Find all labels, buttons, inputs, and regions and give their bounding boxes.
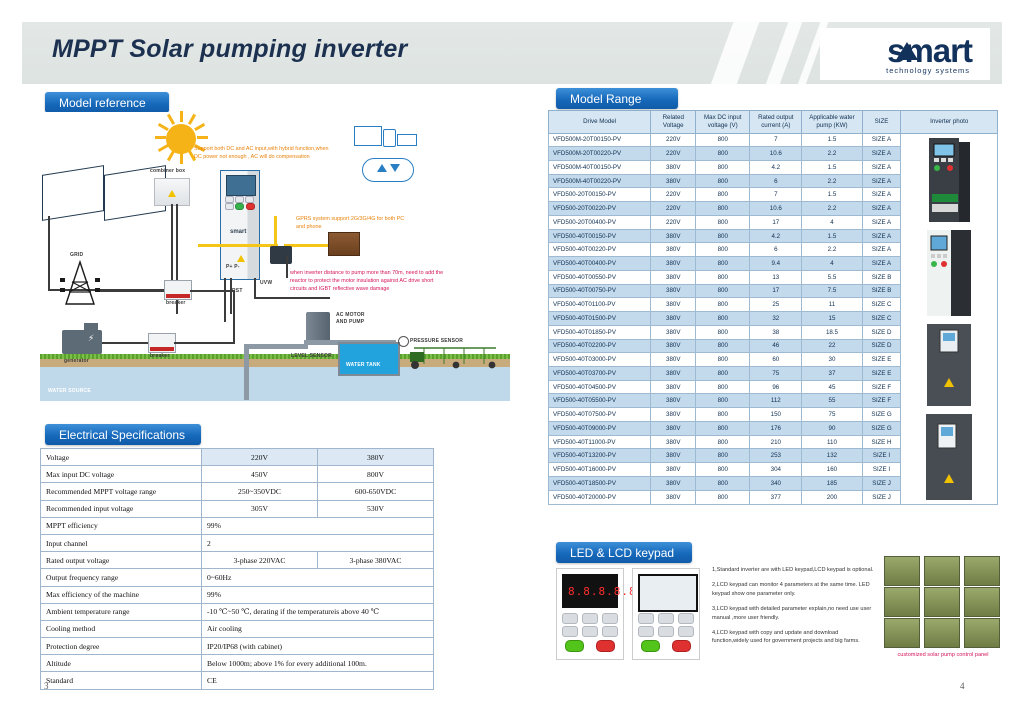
cell-water-pump: 11 (802, 298, 862, 312)
cell-related-voltage: 380V (651, 421, 696, 435)
cell-related-voltage: 380V (651, 449, 696, 463)
cell-drive-model: VFD500-20T00220-PV (549, 202, 651, 216)
cell-related-voltage: 380V (651, 380, 696, 394)
cell-water-pump: 1.5 (802, 133, 862, 147)
table-row: Recommended MPPT voltage range250~350VDC… (41, 483, 434, 500)
cell-max-dc-input: 800 (696, 229, 750, 243)
cell-drive-model: VFD500-40T04500-PV (549, 380, 651, 394)
spec-parameter: MPPT efficiency (41, 517, 202, 534)
cell-related-voltage: 380V (651, 284, 696, 298)
cell-water-pump: 1.5 (802, 229, 862, 243)
cell-related-voltage: 380V (651, 353, 696, 367)
col-size: SIZE (862, 111, 901, 134)
cell-size: SIZE B (862, 284, 901, 298)
cell-rated-output-current: 46 (750, 339, 802, 353)
spec-value: -10 ℃~50 ℃, derating if the temperaturei… (202, 603, 434, 620)
cell-size: SIZE A (862, 215, 901, 229)
spec-parameter: Input channel (41, 534, 202, 551)
note-gprs: GPRS system support 2G/3G/4G for both PC… (296, 216, 406, 232)
combiner-box (154, 178, 190, 206)
cell-water-pump: 90 (802, 421, 862, 435)
cell-size: SIZE C (862, 312, 901, 326)
cell-water-pump: 37 (802, 366, 862, 380)
cell-max-dc-input: 800 (696, 421, 750, 435)
table-row: Voltage220V380V (41, 449, 434, 466)
lcd-keypad (632, 568, 700, 660)
cell-max-dc-input: 800 (696, 490, 750, 504)
cell-water-pump: 1.5 (802, 188, 862, 202)
cell-size: SIZE G (862, 408, 901, 422)
logo-triangle-icon (896, 42, 918, 60)
cell-drive-model: VFD500-40T00220-PV (549, 243, 651, 257)
table-row: Ambient temperature range-10 ℃~50 ℃, der… (41, 603, 434, 620)
keypad-note-4: 4,LCD keypad with copy and update and do… (712, 629, 874, 646)
cell-max-dc-input: 800 (696, 270, 750, 284)
spec-parameter: Recommended MPPT voltage range (41, 483, 202, 500)
cell-size: SIZE A (862, 188, 901, 202)
cell-water-pump: 2.2 (802, 243, 862, 257)
cell-size: SIZE E (862, 353, 901, 367)
cell-related-voltage: 220V (651, 188, 696, 202)
lcd-display-panel (638, 574, 698, 612)
cell-size: SIZE J (862, 490, 901, 504)
spec-value: 3-phase 380VAC (317, 552, 433, 569)
cell-size: SIZE A (862, 133, 901, 147)
cell-drive-model: VFD500-40T00400-PV (549, 257, 651, 271)
cell-max-dc-input: 800 (696, 366, 750, 380)
cell-rated-output-current: 176 (750, 421, 802, 435)
water-tank (338, 342, 400, 376)
note-hybrid-input: Support both DC and AC input,with hybrid… (194, 146, 334, 162)
cell-water-pump: 185 (802, 476, 862, 490)
spec-parameter: Recommended input voltage (41, 500, 202, 517)
spec-parameter: Altitude (41, 655, 202, 672)
label-uvw: UVW (260, 280, 272, 286)
ac-motor-and-pump-icon (306, 312, 330, 342)
table-row: Input channel2 (41, 534, 434, 551)
control-panel-caption: customized solar pump control panel (878, 652, 1008, 658)
cell-drive-model: VFD500-20T00400-PV (549, 215, 651, 229)
spec-parameter: Voltage (41, 449, 202, 466)
inverter-photo-large (923, 320, 975, 410)
cell-rated-output-current: 304 (750, 463, 802, 477)
cell-related-voltage: 380V (651, 243, 696, 257)
cell-water-pump: 18.5 (802, 325, 862, 339)
col-inverter-photo: Inverter photo (901, 111, 998, 134)
model-range-body: VFD500M-20T00150-PV220V80071.5SIZE AVFD5… (549, 133, 998, 504)
spec-value: CE (202, 672, 434, 689)
cell-related-voltage: 380V (651, 160, 696, 174)
col-max-dc-input-voltage: Max DC input voltage (V) (696, 111, 750, 134)
col-related-voltage: Related Voltage (651, 111, 696, 134)
cell-size: SIZE A (862, 147, 901, 161)
cell-water-pump: 132 (802, 449, 862, 463)
brand-logo: smart technology systems (820, 28, 990, 80)
cell-size: SIZE E (862, 366, 901, 380)
cell-drive-model: VFD500-40T09000-PV (549, 421, 651, 435)
cell-rated-output-current: 13 (750, 270, 802, 284)
cell-related-voltage: 220V (651, 215, 696, 229)
cell-water-pump: 110 (802, 435, 862, 449)
cell-max-dc-input: 800 (696, 312, 750, 326)
cell-rated-output-current: 7 (750, 188, 802, 202)
cloud-icon (358, 142, 416, 196)
cell-max-dc-input: 800 (696, 325, 750, 339)
cell-rated-output-current: 60 (750, 353, 802, 367)
cell-water-pump: 2.2 (802, 202, 862, 216)
col-rated-output-current: Rated output current (A) (750, 111, 802, 134)
cell-water-pump: 55 (802, 394, 862, 408)
cell-max-dc-input: 800 (696, 435, 750, 449)
keypad-images: 8.8.8.8.8 (556, 568, 702, 660)
spec-value: 305V (202, 500, 318, 517)
label-level-sensor: LEVEL SENSOR (291, 353, 332, 359)
cell-drive-model: VFD500-40T05500-PV (549, 394, 651, 408)
cell-rated-output-current: 10.6 (750, 147, 802, 161)
cell-water-pump: 4 (802, 257, 862, 271)
cell-drive-model: VFD500-40T01850-PV (549, 325, 651, 339)
cell-max-dc-input: 800 (696, 476, 750, 490)
model-range-table: Drive Model Related Voltage Max DC input… (548, 110, 998, 505)
cell-rated-output-current: 377 (750, 490, 802, 504)
power-grid-tower-icon (60, 260, 100, 306)
spec-parameter: Standard (41, 672, 202, 689)
table-row: VFD500M-20T00150-PV220V80071.5SIZE A (549, 133, 998, 147)
cell-drive-model: VFD500-40T20000-PV (549, 490, 651, 504)
section-heading-led-lcd-keypad: LED & LCD keypad (556, 542, 692, 563)
spec-value: Air cooling (202, 620, 434, 637)
cell-max-dc-input: 800 (696, 202, 750, 216)
cell-related-voltage: 380V (651, 325, 696, 339)
spec-value: 530V (317, 500, 433, 517)
sun-icon (166, 124, 196, 154)
cell-water-pump: 2.2 (802, 174, 862, 188)
cell-drive-model: VFD500-40T03000-PV (549, 353, 651, 367)
cell-water-pump: 160 (802, 463, 862, 477)
cell-related-voltage: 380V (651, 394, 696, 408)
spec-value: 800V (317, 466, 433, 483)
label-breaker-generator: breaker (150, 353, 169, 359)
cell-size: SIZE F (862, 394, 901, 408)
page-header: MPPT Solar pumping inverter smart techno… (22, 22, 1002, 84)
irrigation-machine-icon (410, 338, 500, 372)
cell-related-voltage: 220V (651, 147, 696, 161)
table-row: Max efficiency of the machine99% (41, 586, 434, 603)
inverter-keypad (225, 196, 255, 212)
cell-related-voltage: 380V (651, 408, 696, 422)
table-row: AltitudeBelow 1000m; above 1% for every … (41, 655, 434, 672)
cell-water-pump: 4 (802, 215, 862, 229)
cell-max-dc-input: 800 (696, 380, 750, 394)
table-row: Protection degreeIP20/IP68 (with cabinet… (41, 638, 434, 655)
keypad-note-1: 1,Standard inverter are with LED keypad,… (712, 566, 874, 574)
spec-value: 250~350VDC (202, 483, 318, 500)
cell-max-dc-input: 800 (696, 174, 750, 188)
cell-rated-output-current: 253 (750, 449, 802, 463)
cell-rated-output-current: 38 (750, 325, 802, 339)
ac-reactor-icon (328, 232, 360, 256)
inverter-photo-small (923, 136, 975, 226)
cell-rated-output-current: 25 (750, 298, 802, 312)
label-water-tank: WATER TANK (346, 362, 381, 368)
cell-related-voltage: 380V (651, 312, 696, 326)
generator-icon: ⚡ (62, 330, 102, 354)
label-breaker-grid: breaker (166, 300, 185, 306)
col-drive-model: Drive Model (549, 111, 651, 134)
cell-rated-output-current: 4.2 (750, 160, 802, 174)
keypad-note-2: 2,LCD keypad can monitor 4 parameters at… (712, 581, 874, 598)
cell-size: SIZE A (862, 202, 901, 216)
cell-related-voltage: 380V (651, 490, 696, 504)
led-keypad: 8.8.8.8.8 (556, 568, 624, 660)
cell-size: SIZE A (862, 160, 901, 174)
spec-parameter: Protection degree (41, 638, 202, 655)
cell-drive-model: VFD500-20T00150-PV (549, 188, 651, 202)
cell-max-dc-input: 800 (696, 160, 750, 174)
cell-drive-model: VFD500M-40T00220-PV (549, 174, 651, 188)
cell-drive-model: VFD500-40T00750-PV (549, 284, 651, 298)
label-generator: generator (64, 358, 89, 364)
spec-parameter: Output frequency range (41, 569, 202, 586)
page-number-right: 4 (960, 681, 965, 691)
section-heading-model-reference: Model reference (45, 92, 169, 113)
spec-value: 99% (202, 586, 434, 603)
spec-value: 0~60Hz (202, 569, 434, 586)
table-row: StandardCE (41, 672, 434, 689)
table-row: MPPT efficiency99% (41, 517, 434, 534)
cell-size: SIZE B (862, 270, 901, 284)
cell-drive-model: VFD500-40T00550-PV (549, 270, 651, 284)
cell-size: SIZE F (862, 380, 901, 394)
cell-rated-output-current: 32 (750, 312, 802, 326)
cell-rated-output-current: 4.2 (750, 229, 802, 243)
keypad-notes: 1,Standard inverter are with LED keypad,… (712, 566, 874, 653)
cell-max-dc-input: 800 (696, 243, 750, 257)
cell-rated-output-current: 150 (750, 408, 802, 422)
control-panel-photos (884, 556, 1002, 648)
cell-max-dc-input: 800 (696, 188, 750, 202)
cell-rated-output-current: 7 (750, 133, 802, 147)
spec-value: 380V (317, 449, 433, 466)
cell-water-pump: 75 (802, 408, 862, 422)
col-applicable-water-pump: Applicable water pump (KW) (802, 111, 862, 134)
cell-size: SIZE A (862, 229, 901, 243)
cell-drive-model: VFD500-40T01500-PV (549, 312, 651, 326)
spec-table-body: Voltage220V380VMax input DC voltage450V8… (41, 449, 434, 690)
cell-rated-output-current: 96 (750, 380, 802, 394)
inverter-photo-xlarge (923, 412, 975, 502)
cell-related-voltage: 380V (651, 476, 696, 490)
solar-panel-1 (42, 165, 104, 221)
cell-rated-output-current: 340 (750, 476, 802, 490)
cell-related-voltage: 380V (651, 298, 696, 312)
cell-water-pump: 200 (802, 490, 862, 504)
cell-rated-output-current: 75 (750, 366, 802, 380)
label-dc-terminals: P+ P- (226, 264, 240, 270)
table-row: Max input DC voltage450V800V (41, 466, 434, 483)
cell-rated-output-current: 17 (750, 284, 802, 298)
table-row: Rated output voltage3-phase 220VAC3-phas… (41, 552, 434, 569)
inverter-display (226, 175, 256, 196)
cell-max-dc-input: 800 (696, 284, 750, 298)
cell-size: SIZE D (862, 325, 901, 339)
cell-water-pump: 15 (802, 312, 862, 326)
cell-drive-model: VFD500-40T02200-PV (549, 339, 651, 353)
cell-max-dc-input: 800 (696, 298, 750, 312)
cell-water-pump: 22 (802, 339, 862, 353)
table-header-row: Drive Model Related Voltage Max DC input… (549, 111, 998, 134)
spec-value: 3-phase 220VAC (202, 552, 318, 569)
spec-value: 600-650VDC (317, 483, 433, 500)
cell-size: SIZE J (862, 476, 901, 490)
cell-rated-output-current: 112 (750, 394, 802, 408)
cell-related-voltage: 380V (651, 463, 696, 477)
label-combiner-box: combiner box (150, 168, 185, 174)
cell-drive-model: VFD500-40T03700-PV (549, 366, 651, 380)
cell-size: SIZE D (862, 339, 901, 353)
cell-drive-model: VFD500-40T00150-PV (549, 229, 651, 243)
cell-size: SIZE H (862, 435, 901, 449)
label-ac-motor-and-pump: AC MOTOR AND PUMP (336, 312, 376, 326)
cell-max-dc-input: 800 (696, 394, 750, 408)
cell-water-pump: 30 (802, 353, 862, 367)
cell-size: SIZE I (862, 463, 901, 477)
cell-drive-model: VFD500M-20T00220-PV (549, 147, 651, 161)
spec-value: 99% (202, 517, 434, 534)
breaker-grid (164, 280, 192, 300)
cell-max-dc-input: 800 (696, 257, 750, 271)
cell-size: SIZE A (862, 174, 901, 188)
led-segment-readout: 8.8.8.8.8 (568, 585, 637, 598)
spec-parameter: Rated output voltage (41, 552, 202, 569)
cell-drive-model: VFD500-40T11000-PV (549, 435, 651, 449)
cell-related-voltage: 380V (651, 270, 696, 284)
cell-size: SIZE A (862, 243, 901, 257)
table-row: Output frequency range0~60Hz (41, 569, 434, 586)
label-grid: GRID (70, 252, 83, 258)
pressure-sensor-icon (398, 336, 409, 347)
electrical-specifications-table: Voltage220V380VMax input DC voltage450V8… (40, 448, 434, 690)
section-heading-model-range: Model Range (556, 88, 678, 109)
spec-parameter: Max efficiency of the machine (41, 586, 202, 603)
spec-parameter: Ambient temperature range (41, 603, 202, 620)
spec-value: 450V (202, 466, 318, 483)
breaker-generator (148, 333, 176, 353)
cell-max-dc-input: 800 (696, 339, 750, 353)
cell-max-dc-input: 800 (696, 353, 750, 367)
cell-related-voltage: 380V (651, 257, 696, 271)
cell-drive-model: VFD500-40T01100-PV (549, 298, 651, 312)
label-water-source: WATER SOURCE (48, 388, 91, 394)
cell-rated-output-current: 9.4 (750, 257, 802, 271)
cell-rated-output-current: 17 (750, 215, 802, 229)
keypad-note-3: 3,LCD keypad with detailed parameter exp… (712, 605, 874, 622)
spec-parameter: Max input DC voltage (41, 466, 202, 483)
note-reactor-warning: when inverter distance to pump more than… (290, 270, 448, 293)
page-number-left: 3 (44, 681, 49, 691)
cell-water-pump: 1.5 (802, 160, 862, 174)
cell-water-pump: 7.5 (802, 284, 862, 298)
cell-max-dc-input: 800 (696, 147, 750, 161)
cell-drive-model: VFD500-40T07500-PV (549, 408, 651, 422)
cell-size: SIZE G (862, 421, 901, 435)
cell-water-pump: 45 (802, 380, 862, 394)
cell-size: SIZE I (862, 449, 901, 463)
spec-value: 220V (202, 449, 318, 466)
logo-tagline: technology systems (886, 66, 970, 75)
cell-rated-output-current: 6 (750, 243, 802, 257)
spec-value: Below 1000m; above 1% for every addition… (202, 655, 434, 672)
table-row: Cooling methodAir cooling (41, 620, 434, 637)
cell-related-voltage: 380V (651, 229, 696, 243)
page-title: MPPT Solar pumping inverter (52, 35, 407, 64)
cell-water-pump: 2.2 (802, 147, 862, 161)
cell-related-voltage: 220V (651, 202, 696, 216)
cell-water-pump: 5.5 (802, 270, 862, 284)
cell-max-dc-input: 800 (696, 408, 750, 422)
cell-max-dc-input: 800 (696, 449, 750, 463)
cell-related-voltage: 380V (651, 366, 696, 380)
cell-rated-output-current: 6 (750, 174, 802, 188)
gprs-modem-icon (270, 246, 292, 264)
cell-drive-model: VFD500M-40T00150-PV (549, 160, 651, 174)
section-heading-electrical-specifications: Electrical Specifications (45, 424, 201, 445)
spec-value: IP20/IP68 (with cabinet) (202, 638, 434, 655)
cell-rated-output-current: 10.6 (750, 202, 802, 216)
spec-value: 2 (202, 534, 434, 551)
spec-parameter: Cooling method (41, 620, 202, 637)
model-range-header: Drive Model Related Voltage Max DC input… (549, 111, 998, 134)
cell-related-voltage: 380V (651, 174, 696, 188)
led-display-panel: 8.8.8.8.8 (562, 574, 618, 608)
table-row: Recommended input voltage305V530V (41, 500, 434, 517)
cell-related-voltage: 380V (651, 435, 696, 449)
inverter-brand-label: smart (230, 229, 246, 235)
cell-drive-model: VFD500-40T16000-PV (549, 463, 651, 477)
cell-related-voltage: 220V (651, 133, 696, 147)
cell-related-voltage: 380V (651, 339, 696, 353)
cell-max-dc-input: 800 (696, 133, 750, 147)
cell-size: SIZE C (862, 298, 901, 312)
cell-rated-output-current: 210 (750, 435, 802, 449)
inverter-photo-medium (923, 228, 975, 318)
cell-drive-model: VFD500-40T13200-PV (549, 449, 651, 463)
cell-max-dc-input: 800 (696, 215, 750, 229)
cell-drive-model: VFD500-40T18500-PV (549, 476, 651, 490)
cell-drive-model: VFD500M-20T00150-PV (549, 133, 651, 147)
cell-max-dc-input: 800 (696, 463, 750, 477)
system-diagram: Support both DC and AC input,with hybrid… (38, 112, 518, 407)
inverter-photo-cell (901, 133, 998, 504)
cell-size: SIZE A (862, 257, 901, 271)
